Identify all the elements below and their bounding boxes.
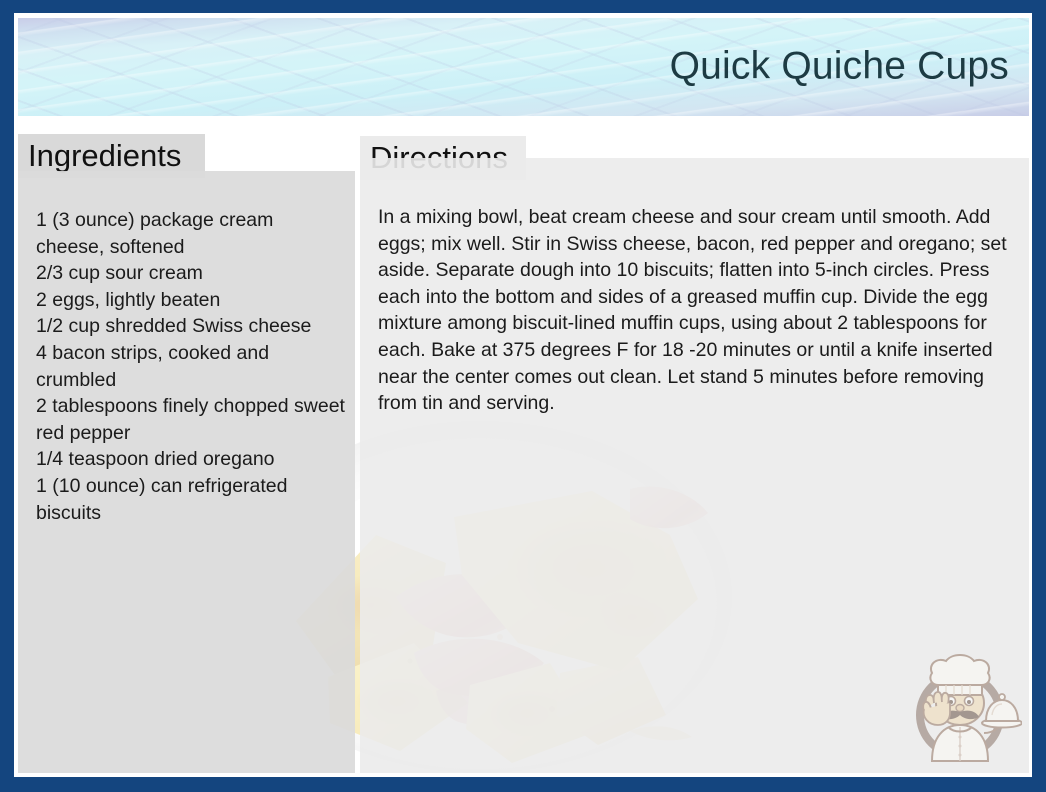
ingredients-list: 1 (3 ounce) package cream cheese, soften… — [18, 171, 355, 526]
list-item: 1/4 teaspoon dried oregano — [36, 446, 347, 473]
list-item: 2/3 cup sour cream — [36, 260, 347, 287]
list-item: 1 (10 ounce) can refrigerated biscuits — [36, 473, 347, 526]
list-item: 1/2 cup shredded Swiss cheese — [36, 313, 347, 340]
list-item: 2 tablespoons finely chopped sweet red p… — [36, 393, 347, 446]
page-title: Quick Quiche Cups — [670, 47, 1009, 86]
list-item: 4 bacon strips, cooked and crumbled — [36, 340, 347, 393]
directions-text: In a mixing bowl, beat cream cheese and … — [360, 158, 1029, 417]
ingredients-panel: 1 (3 ounce) package cream cheese, soften… — [18, 171, 355, 773]
directions-panel: In a mixing bowl, beat cream cheese and … — [360, 158, 1029, 773]
header-banner: Quick Quiche Cups — [18, 18, 1029, 116]
recipe-card: Quick Quiche Cups — [0, 0, 1046, 792]
tab-ingredients-label: Ingredients — [28, 138, 181, 174]
list-item: 2 eggs, lightly beaten — [36, 287, 347, 314]
list-item: 1 (3 ounce) package cream cheese, soften… — [36, 207, 347, 260]
recipe-page: Quick Quiche Cups — [14, 13, 1032, 777]
